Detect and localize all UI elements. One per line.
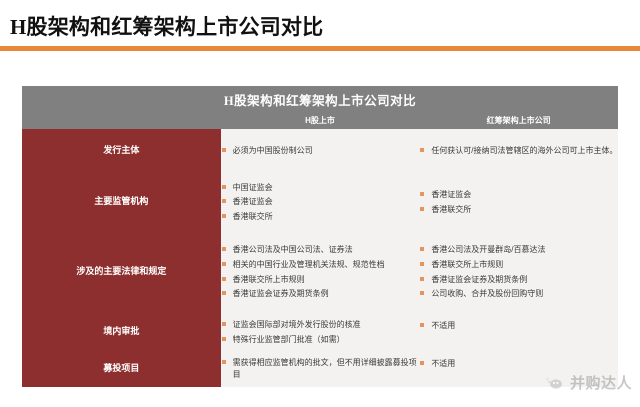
square-bullet-icon: [420, 262, 424, 266]
list-item: 公司收购、合并及股份回购守则: [419, 288, 618, 300]
bullet-list: 必须为中国股份制公司: [221, 145, 420, 157]
cell-red-chip-domestic-approval: 不适用: [419, 313, 618, 351]
square-bullet-icon: [222, 214, 226, 218]
bullet-list: 任何获认可/接纳司法管辖区的海外公司可上市主体。: [419, 145, 618, 157]
page-title: H股架构和红筹架构上市公司对比: [10, 11, 323, 41]
list-item: 香港证监会: [419, 189, 618, 201]
bullet-list: 证监会国际部对境外发行股份的核准 特殊行业监管部门批准（如需）: [221, 319, 420, 345]
square-bullet-icon: [222, 262, 226, 266]
list-item-text: 香港联交所上市规则: [431, 260, 503, 269]
square-bullet-icon: [222, 247, 226, 251]
list-item: 中国证监会: [221, 182, 420, 194]
square-bullet-icon: [420, 192, 424, 196]
list-item-text: 不适用: [431, 321, 455, 330]
row-label-issuer: 发行主体: [22, 129, 221, 173]
cell-h-shares-domestic-approval: 证监会国际部对境外发行股份的核准 特殊行业监管部门批准（如需）: [221, 313, 420, 351]
table-row: 境内审批 证监会国际部对境外发行股份的核准 特殊行业监管部门批准（如需） 不适用: [22, 313, 618, 351]
list-item: 相关的中国行业及管理机关法规、规范性档: [221, 259, 420, 271]
square-bullet-icon: [420, 148, 424, 152]
slide-canvas: H股架构和红筹架构上市公司对比 H股架构和红筹架构上市公司对比 H股上市 红筹架…: [0, 0, 640, 407]
square-bullet-icon: [222, 148, 226, 152]
square-bullet-icon: [222, 291, 226, 295]
list-item-text: 香港公司法及中国公司法、证券法: [233, 245, 353, 254]
list-item-text: 香港证监会: [233, 197, 273, 206]
list-item-text: 证监会国际部对境外发行股份的核准: [233, 320, 361, 329]
cell-red-chip-laws: 香港公司法及开曼群岛/百慕达法 香港联交所上市规则 香港证监会证券及期货条例 公…: [419, 231, 618, 313]
square-bullet-icon: [222, 185, 226, 189]
list-item-text: 香港证监会证券及期货条例: [431, 275, 527, 284]
table-row: 发行主体 必须为中国股份制公司 任何获认可/接纳司法管辖区的海外公司可上市主体。: [22, 129, 618, 173]
list-item: 香港证监会证券及期货条例: [221, 288, 420, 300]
list-item-text: 香港联交所上市规则: [233, 275, 305, 284]
list-item: 香港联交所: [419, 204, 618, 216]
table-row: 涉及的主要法律和规定 香港公司法及中国公司法、证券法 相关的中国行业及管理机关法…: [22, 231, 618, 313]
list-item: 香港联交所上市规则: [419, 259, 618, 271]
cell-h-shares-laws: 香港公司法及中国公司法、证券法 相关的中国行业及管理机关法规、规范性档 香港联交…: [221, 231, 420, 313]
bullet-list: 香港公司法及开曼群岛/百慕达法 香港联交所上市规则 香港证监会证券及期货条例 公…: [419, 244, 618, 299]
title-underline-rule: [0, 46, 640, 51]
table-caption-row: H股架构和红筹架构上市公司对比: [22, 86, 618, 112]
list-item: 香港联交所: [221, 211, 420, 223]
list-item: 证监会国际部对境外发行股份的核准: [221, 319, 420, 331]
square-bullet-icon: [420, 277, 424, 281]
list-item: 必须为中国股份制公司: [221, 145, 420, 157]
list-item-text: 香港联交所: [233, 212, 273, 221]
list-item-text: 香港联交所: [431, 205, 471, 214]
square-bullet-icon: [222, 199, 226, 203]
list-item-text: 特殊行业监管部门批准（如需）: [233, 335, 345, 344]
list-item-text: 中国证监会: [233, 183, 273, 192]
list-item: 香港证监会证券及期货条例: [419, 274, 618, 286]
cell-red-chip-use-of-proceeds: 不适用: [419, 351, 618, 387]
list-item-text: 需获得相应监管机构的批文，但不用详细披露募投项目: [233, 358, 417, 379]
list-item-text: 香港公司法及开曼群岛/百慕达法: [431, 245, 545, 254]
cell-h-shares-regulators: 中国证监会 香港证监会 香港联交所: [221, 173, 420, 231]
row-label-use-of-proceeds: 募投项目: [22, 351, 221, 387]
cell-h-shares-use-of-proceeds: 需获得相应监管机构的批文，但不用详细披露募投项目: [221, 351, 420, 387]
bullet-list: 香港公司法及中国公司法、证券法 相关的中国行业及管理机关法规、规范性档 香港联交…: [221, 244, 420, 299]
list-item: 不适用: [419, 358, 618, 370]
list-item-text: 任何获认可/接纳司法管辖区的海外公司可上市主体。: [431, 146, 617, 155]
list-item-text: 香港证监会证券及期货条例: [233, 289, 329, 298]
square-bullet-icon: [222, 277, 226, 281]
list-item: 不适用: [419, 320, 618, 332]
cell-red-chip-regulators: 香港证监会 香港联交所: [419, 173, 618, 231]
list-item-text: 公司收购、合并及股份回购守则: [431, 289, 543, 298]
column-header-red-chip: 红筹架构上市公司: [419, 112, 618, 129]
list-item: 特殊行业监管部门批准（如需）: [221, 334, 420, 346]
row-label-regulators: 主要监管机构: [22, 173, 221, 231]
comparison-table: H股架构和红筹架构上市公司对比 H股上市 红筹架构上市公司 发行主体 必须为中国…: [22, 86, 618, 387]
list-item-text: 不适用: [431, 359, 455, 368]
square-bullet-icon: [420, 361, 424, 365]
bullet-list: 需获得相应监管机构的批文，但不用详细披露募投项目: [221, 357, 420, 380]
list-item-text: 香港证监会: [431, 190, 471, 199]
table-row: 募投项目 需获得相应监管机构的批文，但不用详细披露募投项目 不适用: [22, 351, 618, 387]
list-item: 香港证监会: [221, 196, 420, 208]
table-header-row: H股上市 红筹架构上市公司: [22, 112, 618, 129]
table-caption: H股架构和红筹架构上市公司对比: [22, 86, 618, 112]
bullet-list: 香港证监会 香港联交所: [419, 189, 618, 215]
square-bullet-icon: [222, 322, 226, 326]
list-item: 香港公司法及开曼群岛/百慕达法: [419, 244, 618, 256]
square-bullet-icon: [222, 337, 226, 341]
list-item-text: 相关的中国行业及管理机关法规、规范性档: [233, 260, 385, 269]
cell-red-chip-issuer: 任何获认可/接纳司法管辖区的海外公司可上市主体。: [419, 129, 618, 173]
list-item: 香港联交所上市规则: [221, 274, 420, 286]
row-label-laws: 涉及的主要法律和规定: [22, 231, 221, 313]
list-item: 任何获认可/接纳司法管辖区的海外公司可上市主体。: [419, 145, 618, 157]
row-label-domestic-approval: 境内审批: [22, 313, 221, 351]
list-item: 香港公司法及中国公司法、证券法: [221, 244, 420, 256]
cell-h-shares-issuer: 必须为中国股份制公司: [221, 129, 420, 173]
table-row: 主要监管机构 中国证监会 香港证监会 香港联交所 香港证监会 香港联交所: [22, 173, 618, 231]
square-bullet-icon: [420, 247, 424, 251]
square-bullet-icon: [420, 323, 424, 327]
list-item: 需获得相应监管机构的批文，但不用详细披露募投项目: [221, 357, 420, 380]
bullet-list: 不适用: [419, 358, 618, 370]
column-header-h-shares: H股上市: [221, 112, 420, 129]
list-item-text: 必须为中国股份制公司: [233, 146, 313, 155]
bullet-list: 中国证监会 香港证监会 香港联交所: [221, 182, 420, 223]
bullet-list: 不适用: [419, 320, 618, 332]
square-bullet-icon: [420, 291, 424, 295]
square-bullet-icon: [222, 360, 226, 364]
column-header-blank: [22, 112, 221, 129]
square-bullet-icon: [420, 207, 424, 211]
